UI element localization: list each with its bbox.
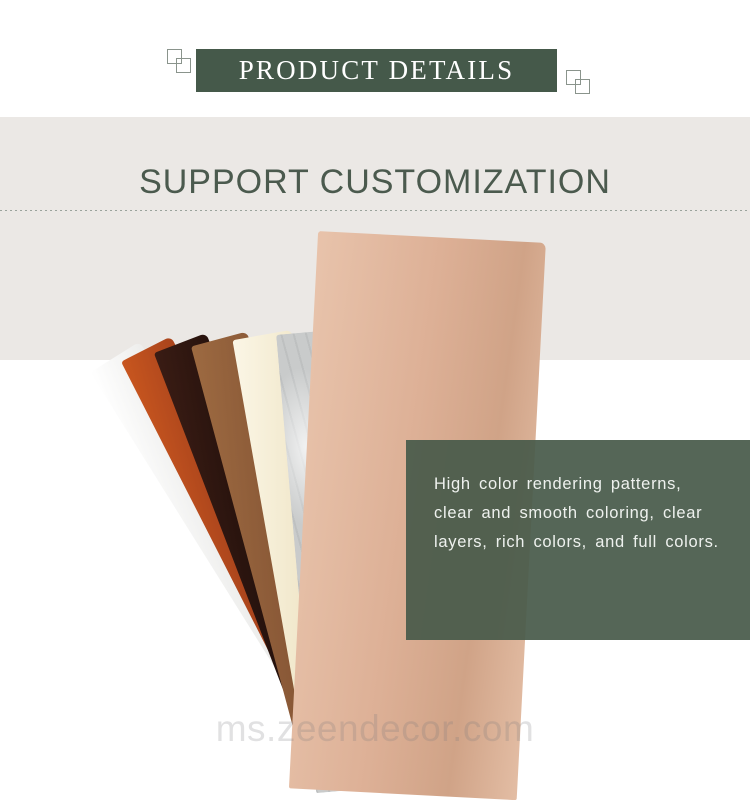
laminate-sample-fan — [0, 117, 750, 756]
product-detail-image: PRODUCT DETAILS SUPPORT CUSTOMIZATION — [0, 0, 750, 756]
product-details-title-bar: PRODUCT DETAILS — [196, 49, 557, 92]
double-square-decoration-left-icon — [167, 49, 193, 75]
site-watermark: ms.zeendecor.com — [0, 708, 750, 750]
double-square-decoration-right-icon — [566, 70, 592, 96]
header-zone: PRODUCT DETAILS — [0, 0, 750, 117]
caption-text: High color rendering patterns, clear and… — [434, 470, 728, 557]
page-title: PRODUCT DETAILS — [239, 55, 515, 86]
feature-caption-box: High color rendering patterns, clear and… — [406, 440, 750, 640]
